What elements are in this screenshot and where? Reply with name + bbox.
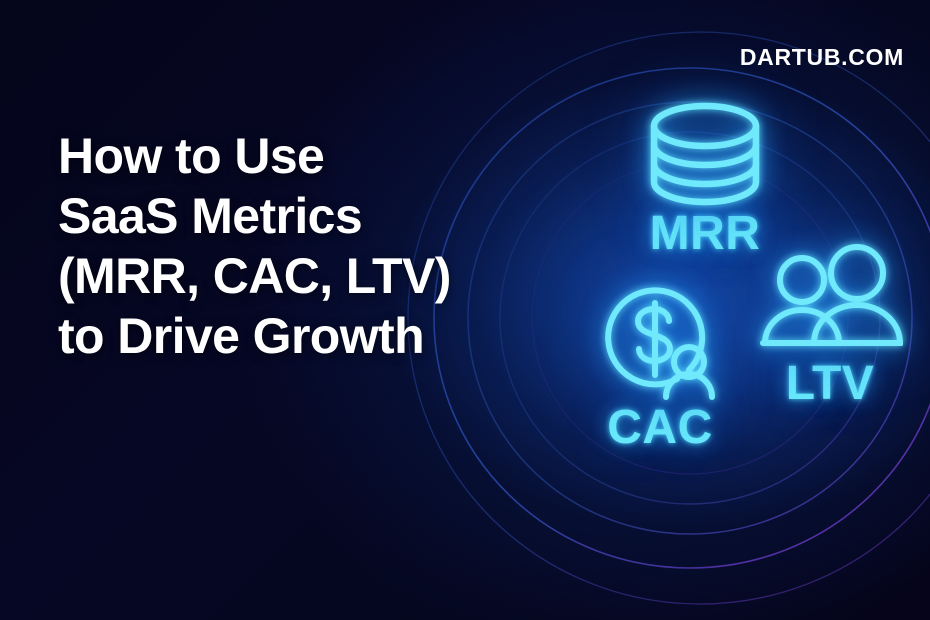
metric-cac: CAC	[560, 278, 760, 455]
title-line-3: (MRR, CAC, LTV)	[58, 246, 528, 306]
site-watermark: DARTUB.COM	[740, 44, 904, 71]
metric-cac-label: CAC	[560, 400, 760, 455]
banner-canvas: DARTUB.COM How to Use SaaS Metrics (MRR,…	[0, 0, 930, 620]
title-line-1: How to Use	[58, 126, 528, 186]
metric-ltv-label: LTV	[740, 356, 920, 411]
metric-ltv: LTV	[740, 244, 920, 411]
database-cylinder-icon	[600, 100, 810, 208]
title-line-4: to Drive Growth	[58, 306, 528, 366]
metric-mrr: MRR	[600, 100, 810, 261]
ring-outer-3	[468, 102, 912, 534]
two-people-group-icon	[740, 244, 920, 362]
metric-mrr-label: MRR	[600, 206, 810, 261]
ring-outer-1	[532, 162, 848, 474]
ring-outer-2	[500, 132, 880, 504]
title-line-2: SaaS Metrics	[58, 186, 528, 246]
page-title: How to Use SaaS Metrics (MRR, CAC, LTV) …	[58, 126, 528, 366]
dollar-circle-person-icon	[560, 278, 760, 404]
